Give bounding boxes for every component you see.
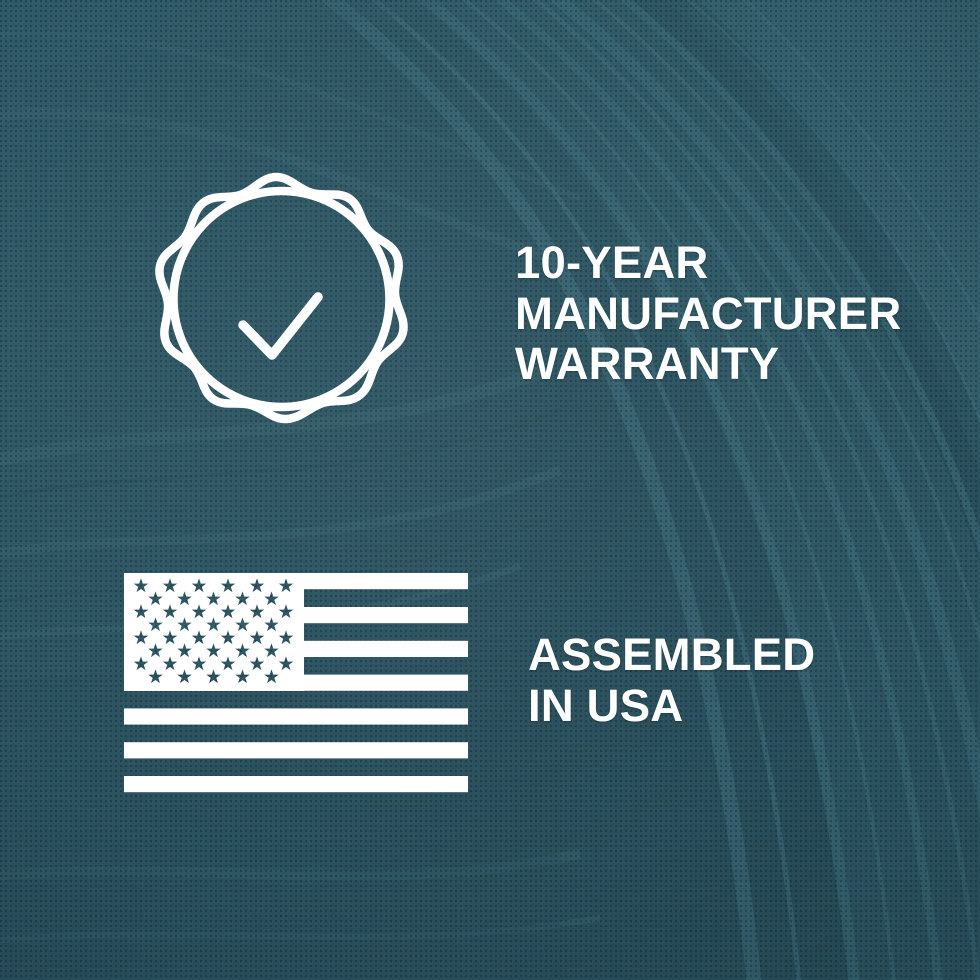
assembled-line-2: IN USA [528,681,928,732]
assembled-line-1: ASSEMBLED [528,630,928,681]
flag-canton [124,573,304,691]
assembled-headline: ASSEMBLED IN USA [528,630,928,731]
warranty-line-1: 10-YEAR [515,238,935,289]
flag-long-stripes [124,708,468,792]
badge-check-seal-icon [120,163,432,487]
warranty-line-2: MANUFACTURER [515,289,935,340]
promo-badge-graphic: 10-YEAR MANUFACTURER WARRANTY ASSEMBLED … [0,0,980,980]
usa-flag-icon [124,573,468,793]
warranty-line-3: WARRANTY [515,339,935,390]
flag-short-stripes [304,573,468,691]
warranty-headline: 10-YEAR MANUFACTURER WARRANTY [515,238,935,390]
